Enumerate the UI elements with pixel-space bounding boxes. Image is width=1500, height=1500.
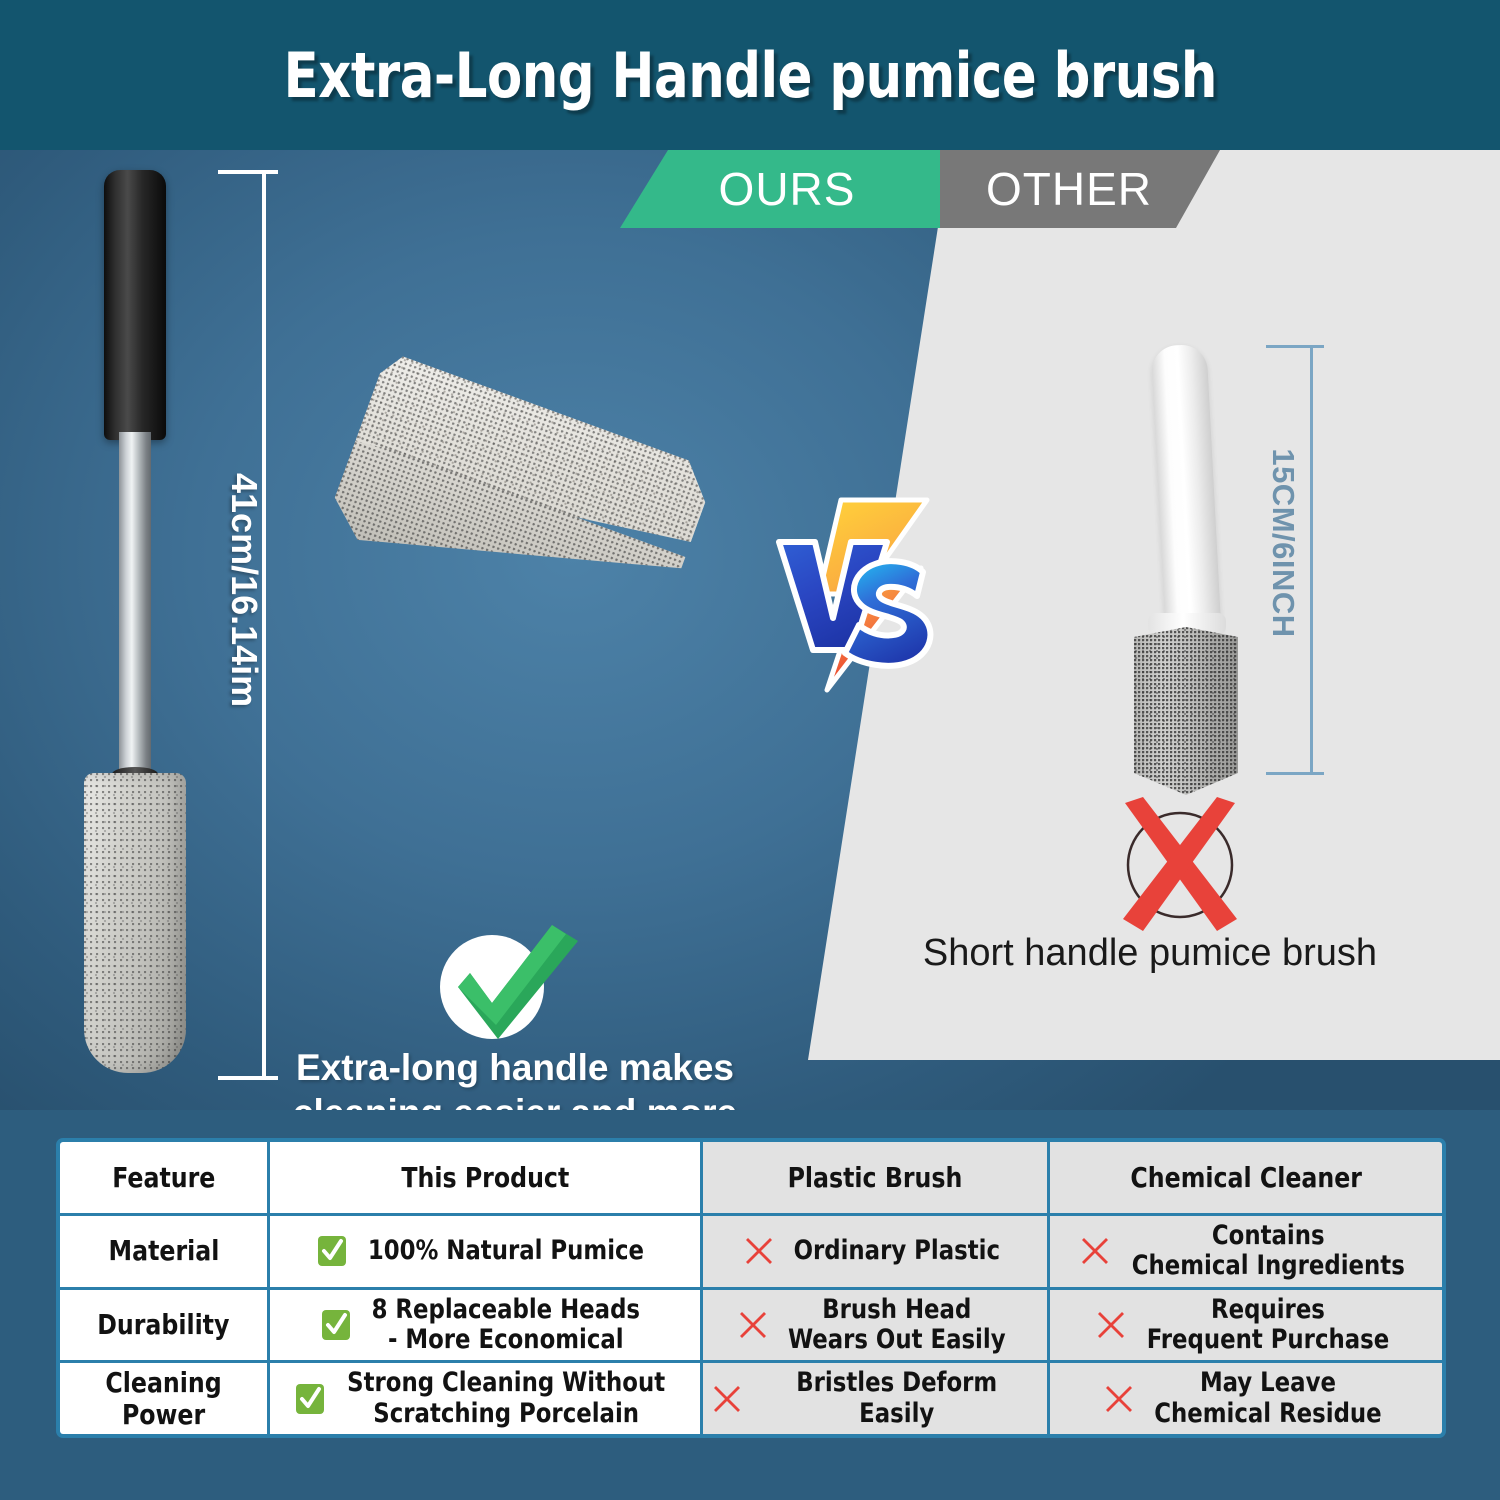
- cell-chemical-cleaner: RequiresFrequent Purchase: [1050, 1290, 1442, 1361]
- versus-logo: [775, 490, 945, 695]
- short-brush-pumice-stone: [1134, 627, 1238, 795]
- comparison-stage: OURS OTHER 41cm/16.14im: [0, 150, 1500, 1110]
- cell-plastic-brush: Ordinary Plastic: [703, 1216, 1047, 1287]
- cell-this-product: Strong Cleaning WithoutScratching Porcel…: [270, 1363, 700, 1434]
- banner-ours: OURS: [620, 150, 940, 228]
- header-cell-chemical-cleaner: Chemical Cleaner: [1050, 1142, 1442, 1213]
- x-icon: [737, 1309, 769, 1341]
- dimension-label-other: 15CM/6INCH: [1265, 438, 1301, 648]
- short-brush-handle: [1150, 344, 1221, 637]
- banner-ours-label: OURS: [719, 162, 856, 216]
- check-icon: [321, 1308, 351, 1342]
- long-handle-pumice-brush-image: [68, 170, 198, 1080]
- cell-this-product: 8 Replaceable Heads- More Economical: [270, 1290, 700, 1361]
- x-icon: [1079, 1235, 1111, 1267]
- x-icon: [743, 1235, 775, 1267]
- table-row: Material 100% Natural Pumice Ordinary Pl…: [60, 1216, 1442, 1287]
- comparison-table: Feature This Product Plastic Brush Chemi…: [56, 1138, 1446, 1438]
- ours-other-banner: OURS OTHER: [620, 150, 1220, 228]
- cell-feature: Cleaning Power: [60, 1363, 267, 1434]
- check-icon: [295, 1382, 325, 1416]
- banner-other: OTHER: [940, 150, 1220, 228]
- dimension-line-right: 15CM/6INCH: [1262, 345, 1324, 775]
- page-title: Extra-Long Handle pumice brush: [283, 39, 1216, 112]
- table-row: Durability 8 Replaceable Heads- More Eco…: [60, 1290, 1442, 1361]
- banner-other-label: OTHER: [986, 162, 1152, 216]
- other-caption: Short handle pumice brush: [890, 932, 1410, 975]
- cell-plastic-brush: Bristles Deform Easily: [703, 1363, 1047, 1434]
- red-x-circle-icon: [1105, 795, 1255, 935]
- pumice-stone-block-image: [323, 351, 717, 649]
- header-cell-feature: Feature: [60, 1142, 267, 1213]
- brush-pumice-head: [84, 773, 186, 1073]
- dimension-cap-bottom: [218, 1076, 278, 1080]
- table-header-row: Feature This Product Plastic Brush Chemi…: [60, 1142, 1442, 1213]
- header-cell-plastic-brush: Plastic Brush: [703, 1142, 1047, 1213]
- dimension-bar: [1310, 345, 1313, 775]
- dimension-cap-top: [1266, 345, 1324, 348]
- check-icon: [317, 1234, 347, 1268]
- title-bar: Extra-Long Handle pumice brush: [0, 0, 1500, 150]
- dimension-label-ours: 41cm/16.14im: [223, 473, 265, 673]
- cell-plastic-brush: Brush HeadWears Out Easily: [703, 1290, 1047, 1361]
- green-check-circle-icon: [430, 925, 580, 1050]
- x-icon: [1095, 1309, 1127, 1341]
- ours-caption: Extra-long handle makes cleaning easier …: [270, 1045, 760, 1110]
- short-handle-pumice-brush-image: [1120, 345, 1250, 775]
- dimension-line-left: 41cm/16.14im: [218, 170, 278, 1080]
- x-icon: [1103, 1383, 1135, 1415]
- cell-feature: Durability: [60, 1290, 267, 1361]
- cell-chemical-cleaner: May LeaveChemical Residue: [1050, 1363, 1442, 1434]
- brush-grip: [104, 170, 166, 440]
- x-icon: [711, 1383, 743, 1415]
- cell-feature: Material: [60, 1216, 267, 1287]
- table-row: Cleaning Power Strong Cleaning WithoutSc…: [60, 1363, 1442, 1434]
- dimension-cap-bottom: [1266, 772, 1324, 775]
- cell-chemical-cleaner: ContainsChemical Ingredients: [1050, 1216, 1442, 1287]
- header-cell-this-product: This Product: [270, 1142, 700, 1213]
- brush-steel-shaft: [119, 432, 151, 777]
- cell-this-product: 100% Natural Pumice: [270, 1216, 700, 1287]
- dimension-cap-top: [218, 170, 278, 174]
